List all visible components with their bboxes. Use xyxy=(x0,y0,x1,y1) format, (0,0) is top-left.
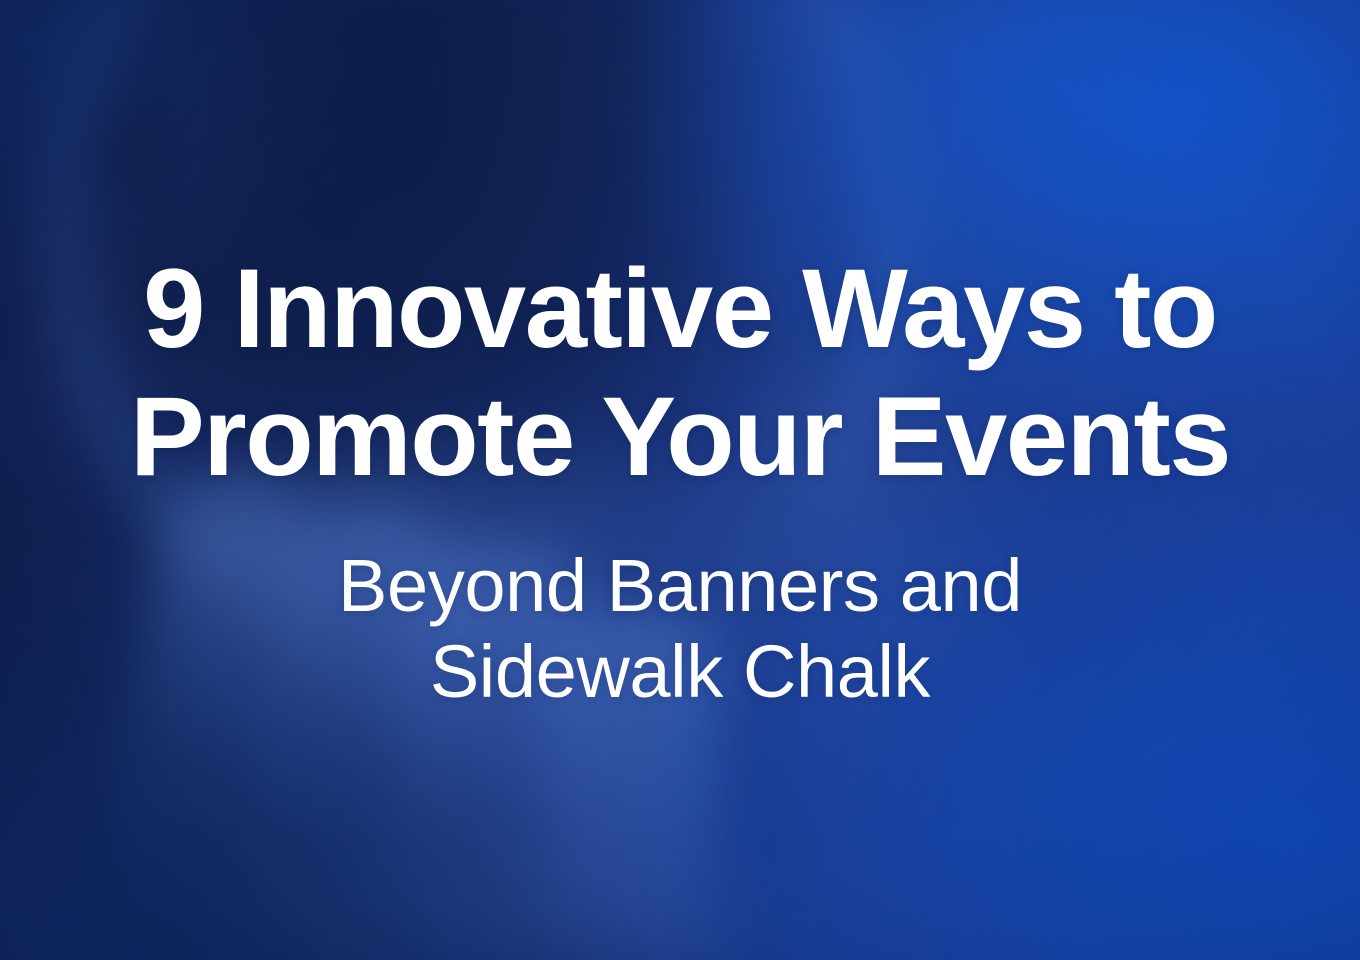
headline-line-2: Promote Your Events xyxy=(130,373,1230,501)
hero-banner: 9 Innovative Ways to Promote Your Events… xyxy=(0,0,1360,960)
headline-line-1: 9 Innovative Ways to xyxy=(130,245,1230,373)
hero-subtitle: Beyond Banners and Sidewalk Chalk xyxy=(298,543,1062,715)
subtitle-line-2: Sidewalk Chalk xyxy=(338,629,1022,715)
subtitle-line-1: Beyond Banners and xyxy=(338,543,1022,629)
hero-headline: 9 Innovative Ways to Promote Your Events xyxy=(90,245,1270,501)
hero-text-block: 9 Innovative Ways to Promote Your Events… xyxy=(0,0,1360,960)
